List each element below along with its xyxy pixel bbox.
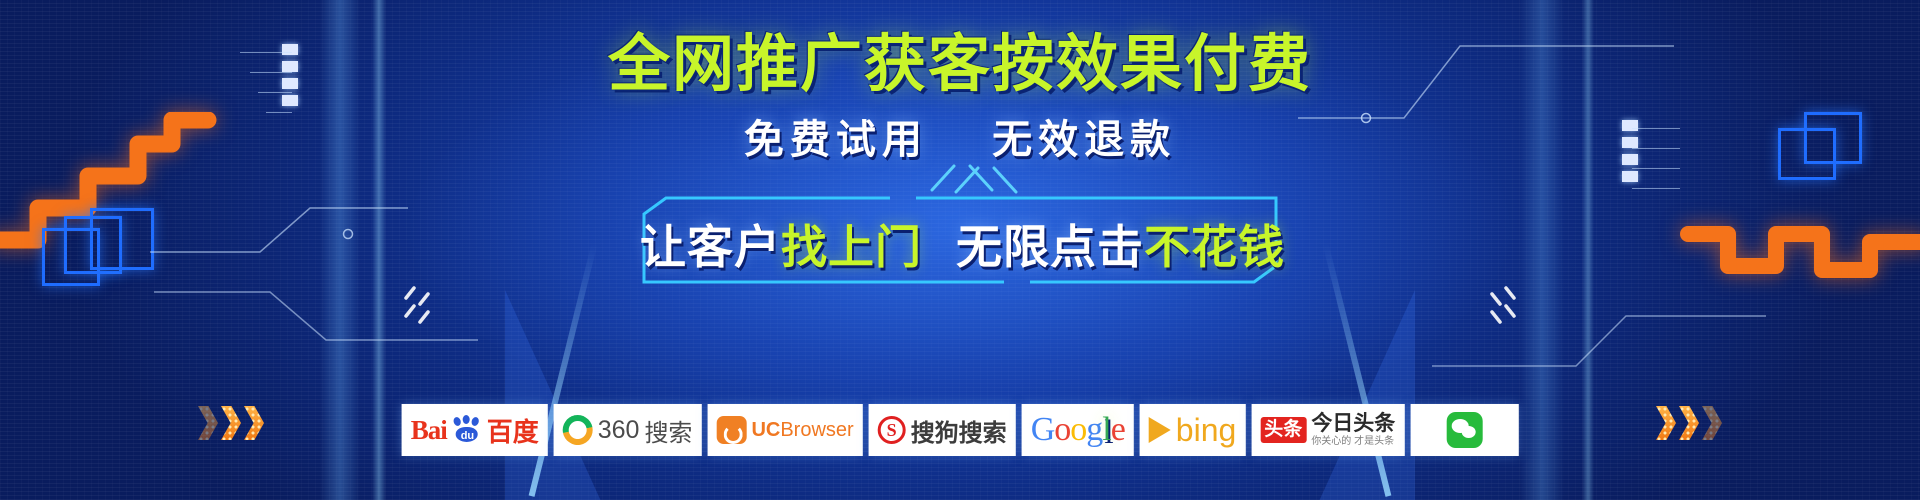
- v-line-left: [529, 243, 598, 497]
- 360-ring-icon: [557, 409, 599, 451]
- connector-line: [1632, 188, 1680, 189]
- slogan-part-3: 无限点击: [956, 221, 1144, 273]
- connector-line: [1632, 168, 1680, 169]
- slogan-part-1: 让客户: [640, 221, 781, 273]
- chevron-icon: [244, 406, 264, 440]
- uc-squirrel-icon: [716, 416, 746, 444]
- sogou-cn-label: 搜狗搜索: [911, 413, 1007, 448]
- baidu-paw-icon: du: [452, 417, 482, 443]
- logo-uc-browser[interactable]: UCBrowser: [707, 404, 862, 456]
- chevron-icon: [1679, 406, 1699, 440]
- sogou-s-icon: S: [878, 416, 906, 444]
- chevron-icon: [1702, 406, 1722, 440]
- logo-google[interactable]: Google: [1022, 404, 1134, 456]
- headline-block: 全网推广获客按效果付费 免费试用 无效退款: [0, 34, 1920, 160]
- toutiao-title: 今日头条: [1311, 413, 1395, 435]
- subtitle: 免费试用 无效退款: [0, 120, 1920, 160]
- slogan-part-4: 不花钱: [1144, 221, 1285, 273]
- 360-cn-label: 搜索: [644, 413, 692, 448]
- logo-360-search[interactable]: 360 搜索: [554, 404, 702, 456]
- chevron-icon: [1656, 406, 1676, 440]
- logo-bing[interactable]: bing: [1140, 404, 1246, 456]
- v-ray-right: [1265, 290, 1415, 500]
- partner-logo-strip: Bai du 百度 360 搜索 UCBrowser S 搜狗: [402, 404, 1519, 456]
- bracket-frame: 让客户找上门无限点击不花钱: [640, 196, 1280, 284]
- bing-arrow-icon: [1149, 417, 1171, 443]
- baidu-cn-label: 百度: [487, 412, 539, 449]
- 360-number-label: 360: [598, 416, 640, 445]
- logo-sogou-search[interactable]: S 搜狗搜索: [869, 404, 1016, 456]
- sparkle-ticks-right: [1460, 282, 1520, 328]
- toutiao-badge-icon: 头条: [1260, 417, 1306, 443]
- google-wordmark: Google: [1031, 411, 1125, 449]
- logo-toutiao[interactable]: 头条 今日头条 你关心的 才是头条: [1251, 404, 1404, 456]
- baidu-wordmark: Bai: [411, 415, 447, 446]
- promo-banner: 全网推广获客按效果付费 免费试用 无效退款 让客户找上门无限点击不花钱: [0, 0, 1920, 500]
- chevron-icon: [221, 406, 241, 440]
- subtitle-left: 免费试用: [744, 118, 928, 162]
- v-ray-left: [505, 290, 655, 500]
- logo-baidu[interactable]: Bai du 百度: [402, 404, 548, 456]
- framed-slogan: 让客户找上门无限点击不花钱: [640, 224, 1280, 270]
- v-line-right: [1323, 243, 1392, 497]
- sparkle-ticks-left: [400, 282, 460, 328]
- subtitle-right: 无效退款: [992, 118, 1176, 162]
- page-title: 全网推广获客按效果付费: [0, 34, 1920, 96]
- toutiao-tagline: 你关心的 才是头条: [1311, 436, 1395, 447]
- logo-wechat[interactable]: [1410, 404, 1518, 456]
- bing-label: bing: [1176, 412, 1237, 449]
- wechat-icon: [1446, 412, 1482, 448]
- chevron-arrows-left: [198, 406, 264, 440]
- chip: [1622, 171, 1638, 182]
- chevron-icon: [198, 406, 218, 440]
- chevron-arrows-right: [1656, 406, 1722, 440]
- uc-label: UCBrowser: [751, 419, 853, 442]
- slogan-part-2: 找上门: [781, 221, 922, 273]
- baidu-du-label: du: [461, 430, 474, 442]
